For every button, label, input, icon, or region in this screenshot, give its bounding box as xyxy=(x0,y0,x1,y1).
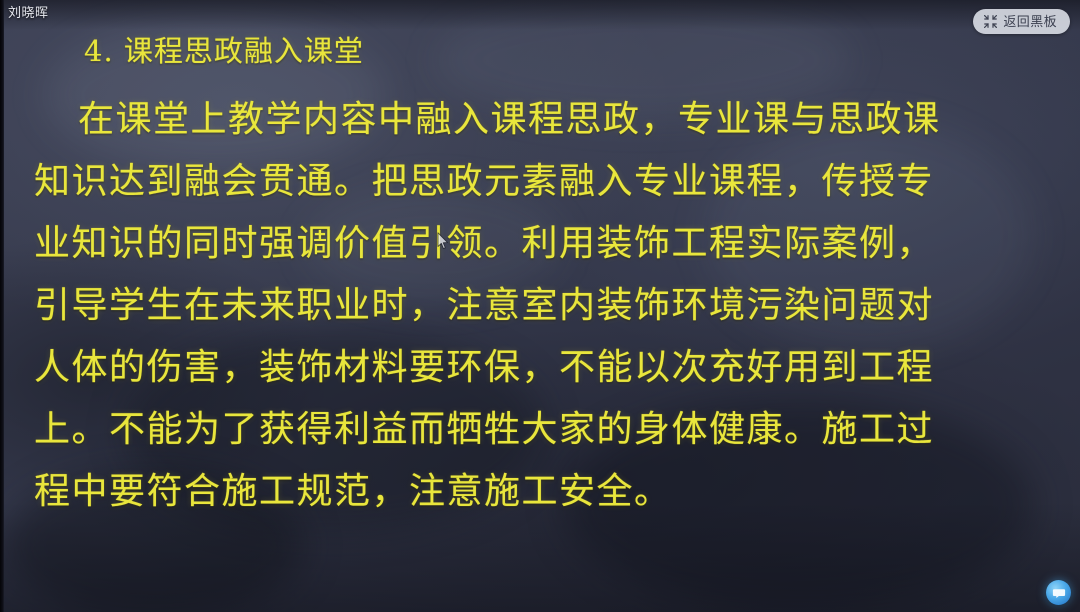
chat-bubble-icon[interactable] xyxy=(1046,580,1071,605)
presenter-name-label: 刘晓晖 xyxy=(8,4,49,21)
slide-paragraph-line: 上。不能为了获得利益而牺牲大家的身体健康。施工过 xyxy=(34,408,934,452)
slide-paragraph-line: 程中要符合施工规范，注意施工安全。 xyxy=(34,470,672,514)
slide-paragraph-line: 人体的伤害，装饰材料要环保，不能以次充好用到工程 xyxy=(34,346,934,390)
slide-content: 4. 课程思政融入课堂 在课堂上教学内容中融入课程思政，专业课与思政课 知识达到… xyxy=(0,0,1080,612)
slide-title: 4. 课程思政融入课堂 xyxy=(84,33,364,69)
return-to-blackboard-button[interactable]: 返回黑板 xyxy=(973,9,1070,34)
shrink-inward-icon xyxy=(984,15,997,28)
slide-paragraph-line: 知识达到融会贯通。把思政元素融入专业课程，传授专 xyxy=(34,160,934,204)
slide-paragraph-line: 业知识的同时强调价值引领。利用装饰工程实际案例， xyxy=(34,222,934,266)
presentation-screen: 刘晓晖 返回黑板 4. 课程思政融入课堂 在课堂上教学内容中融入课程思政，专业课… xyxy=(0,0,1080,612)
slide-paragraph-line: 在课堂上教学内容中融入课程思政，专业课与思政课 xyxy=(78,98,941,142)
slide-paragraph-line: 引导学生在未来职业时，注意室内装饰环境污染问题对 xyxy=(34,284,934,328)
return-to-blackboard-label: 返回黑板 xyxy=(1003,15,1057,28)
